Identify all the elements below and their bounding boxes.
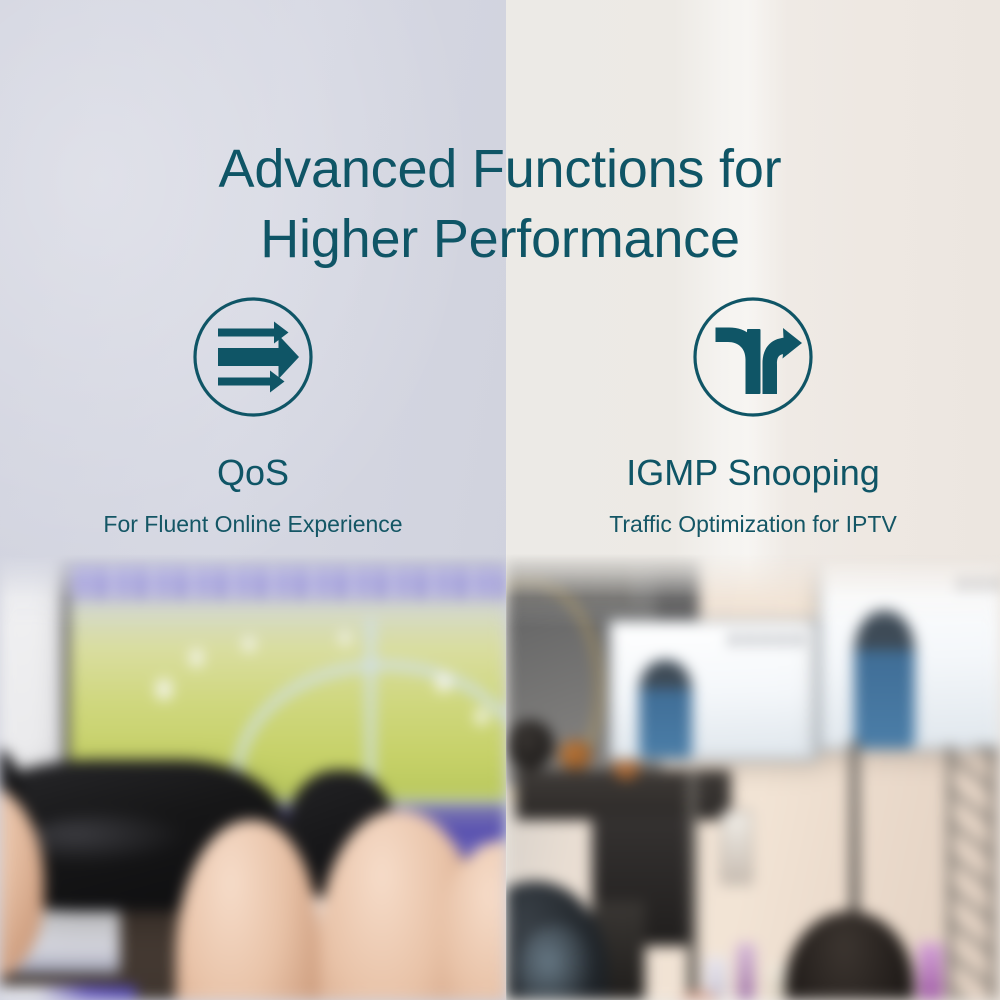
igmp-branching-arrow-icon: [692, 296, 814, 418]
content-layer: Advanced Functions for Higher Performanc…: [0, 0, 1000, 1000]
feature-igmp-title: IGMP Snooping: [506, 453, 1000, 493]
page-title-line-2: Higher Performance: [0, 204, 1000, 274]
page-title-line-1: Advanced Functions for: [0, 134, 1000, 204]
product-feature-banner: Advanced Functions for Higher Performanc…: [0, 0, 1000, 1000]
page-title: Advanced Functions for Higher Performanc…: [0, 134, 1000, 274]
feature-columns: QoS For Fluent Online Experience: [0, 296, 1000, 538]
feature-igmp-snooping: IGMP Snooping Traffic Optimization for I…: [506, 296, 1000, 538]
qos-arrows-icon: [192, 296, 314, 418]
feature-igmp-subtitle: Traffic Optimization for IPTV: [506, 510, 1000, 538]
feature-qos-title: QoS: [0, 453, 506, 493]
feature-qos-subtitle: For Fluent Online Experience: [0, 510, 506, 538]
feature-qos: QoS For Fluent Online Experience: [0, 296, 506, 538]
